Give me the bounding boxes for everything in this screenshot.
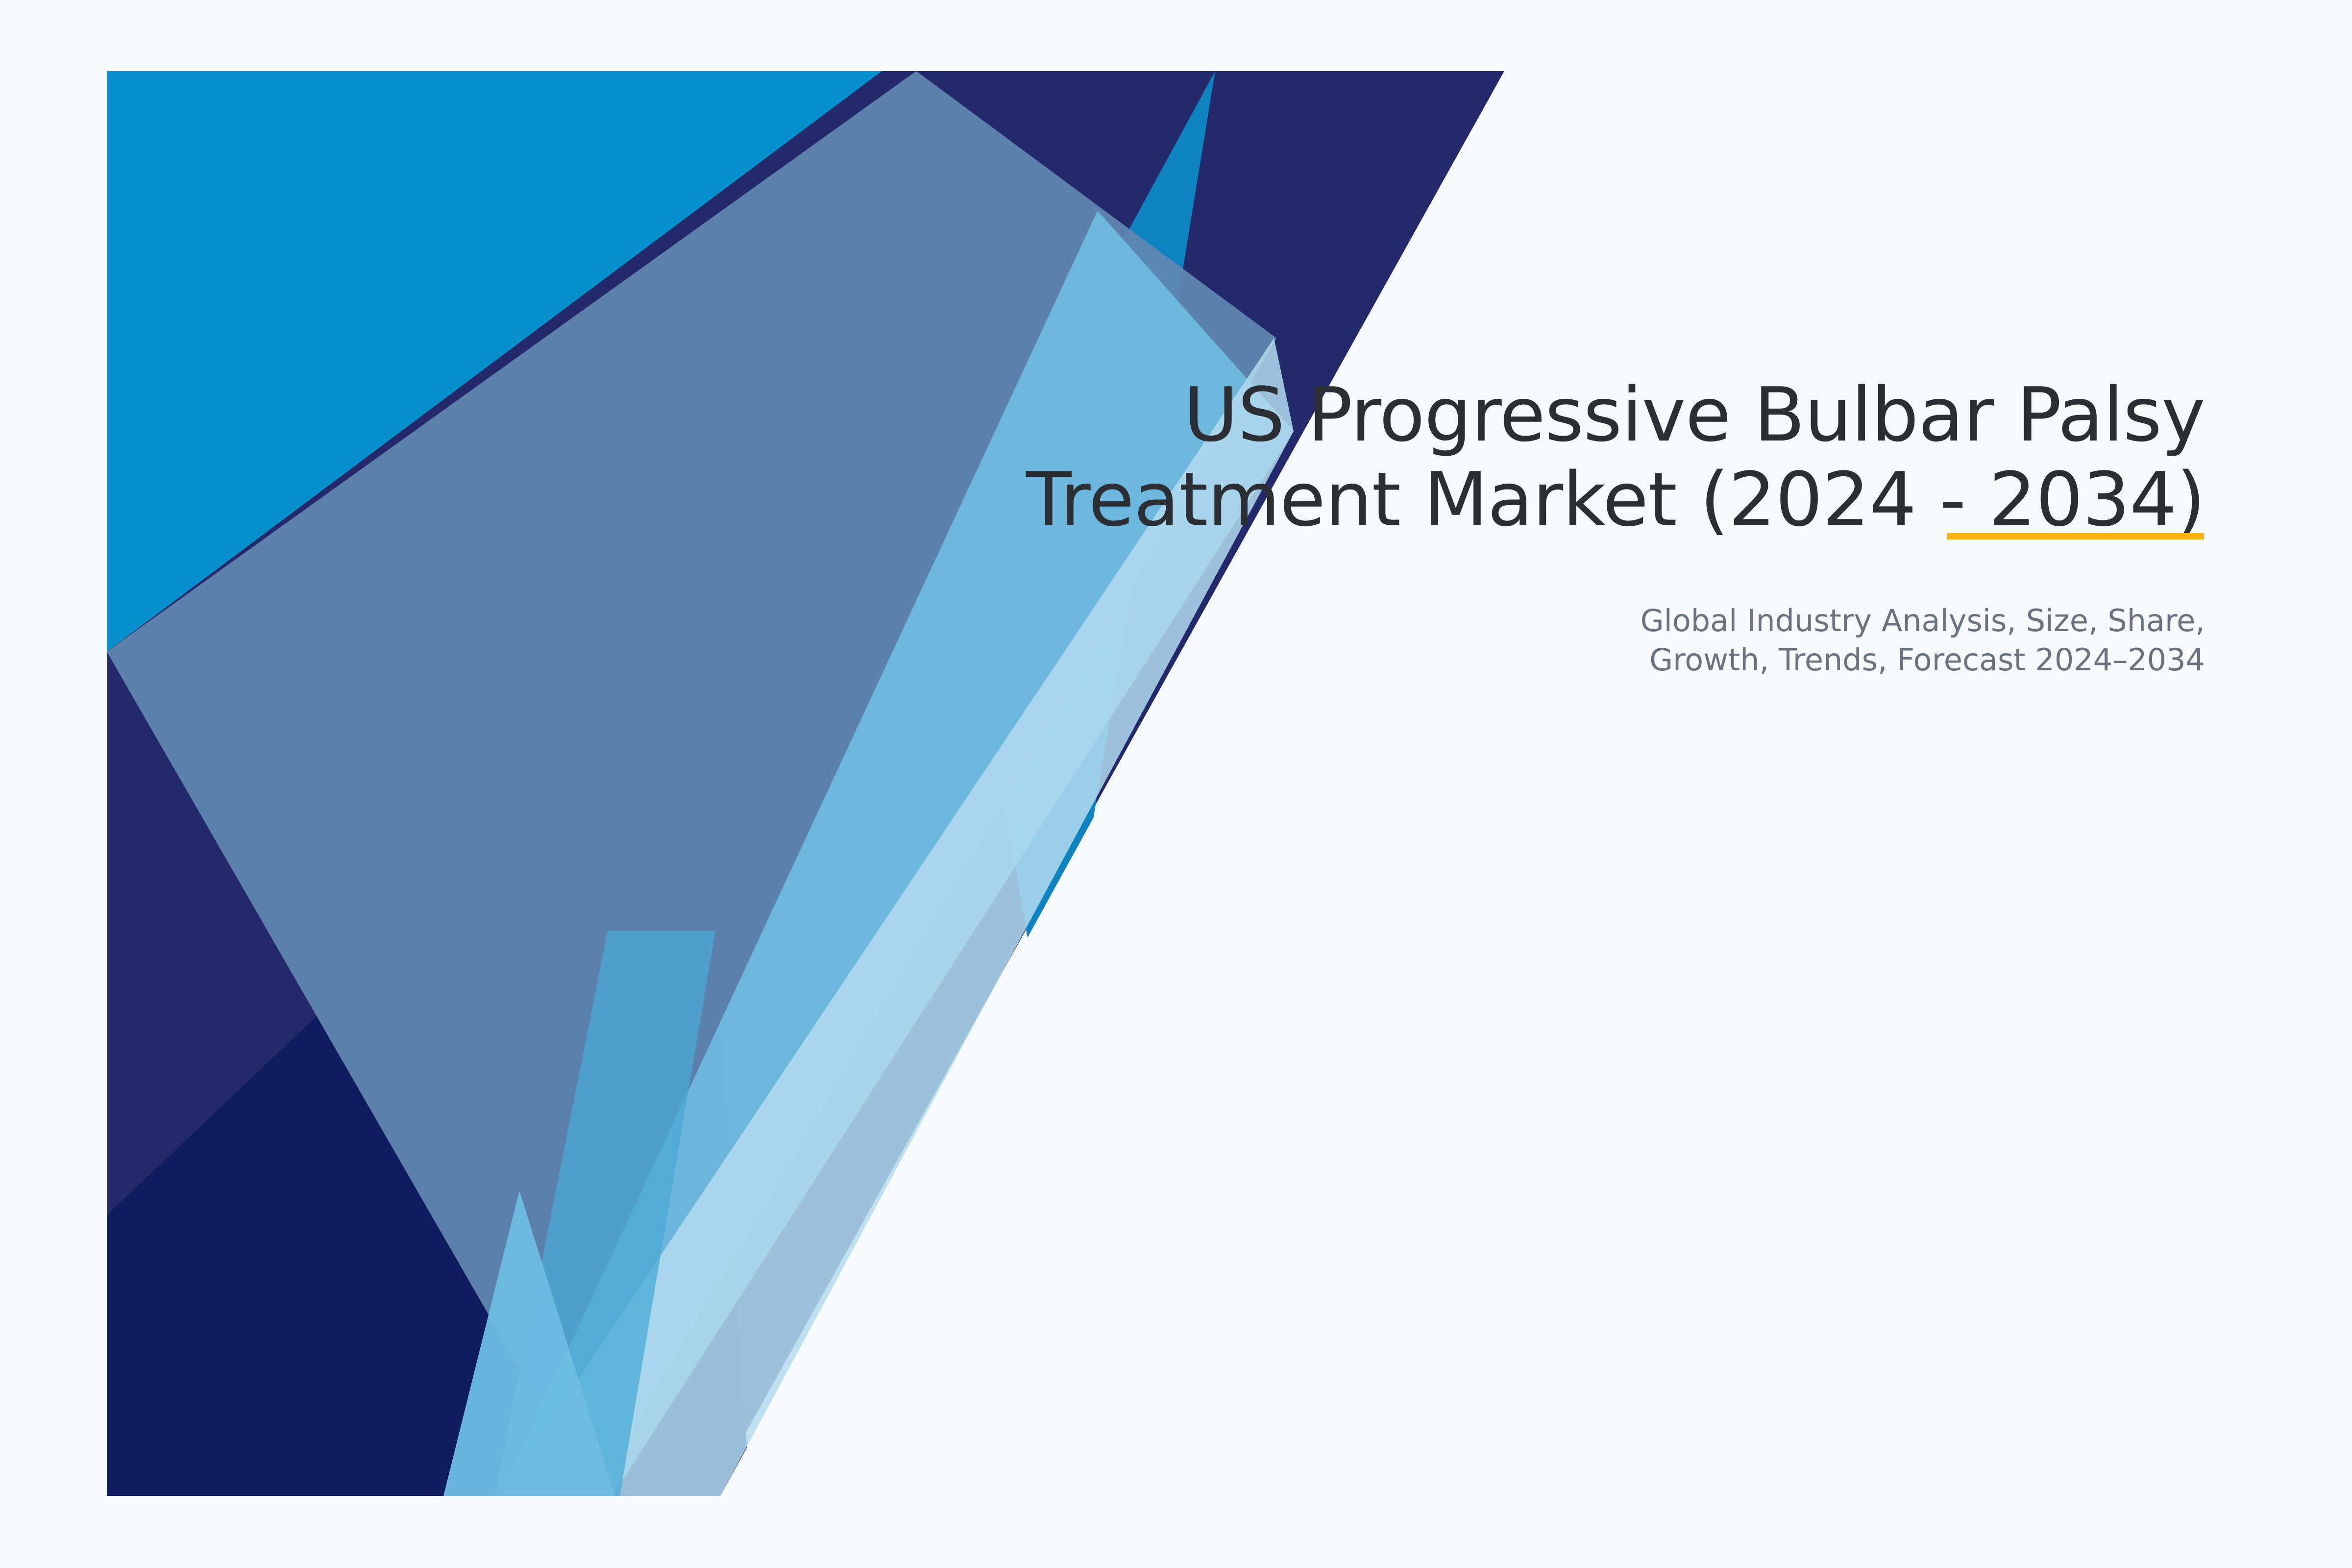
title-line-2: Treatment Market (2024 - 2034) xyxy=(1026,456,2205,543)
title-line-1: US Progressive Bulbar Palsy xyxy=(1184,371,2205,458)
title-block: US Progressive Bulbar Palsy Treatment Ma… xyxy=(980,372,2205,680)
title-accent-underline xyxy=(1947,533,2204,539)
report-cover: US Progressive Bulbar Palsy Treatment Ma… xyxy=(0,0,2352,1568)
subtitle-line-1: Global Industry Analysis, Size, Share, xyxy=(1641,603,2205,638)
subtitle-line-2: Growth, Trends, Forecast 2024–2034 xyxy=(1649,642,2205,678)
page-subtitle: Global Industry Analysis, Size, Share, G… xyxy=(1578,542,2205,680)
abstract-geometric-artwork xyxy=(0,0,2352,1568)
page-title: US Progressive Bulbar Palsy Treatment Ma… xyxy=(980,372,2205,542)
